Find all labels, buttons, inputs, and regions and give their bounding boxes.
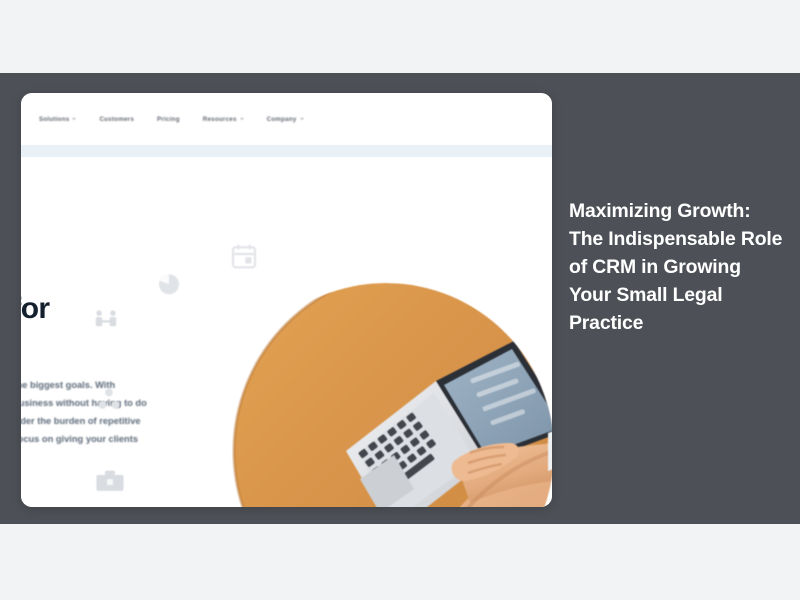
briefcase-icon xyxy=(94,467,126,495)
calendar-icon xyxy=(229,241,259,271)
nav-item-customers[interactable]: Customers xyxy=(99,116,134,123)
person-group-icon xyxy=(95,386,123,414)
nav-item-pricing[interactable]: Pricing xyxy=(157,116,180,123)
chevron-down-icon xyxy=(240,118,244,120)
hero-headline-line-1: tion for xyxy=(21,292,281,326)
nav-item-label: Customers xyxy=(99,116,134,123)
nav-item-solutions[interactable]: Solutions xyxy=(39,116,76,123)
chevron-down-icon xyxy=(300,118,304,120)
hero-section: tion for firms mbitious with the biggest… xyxy=(21,157,552,507)
nav-item-resources[interactable]: Resources xyxy=(203,116,244,123)
nav-item-label: Pricing xyxy=(157,116,180,123)
pie-chart-icon xyxy=(154,268,184,298)
article-headline: Maximizing Growth: The Indispensable Rol… xyxy=(569,198,784,338)
nav-item-label: Resources xyxy=(203,116,237,123)
chevron-down-icon xyxy=(72,118,76,120)
screenshot-root: Solutions Customers Pricing Resources Co… xyxy=(0,0,800,600)
site-nav: Solutions Customers Pricing Resources Co… xyxy=(21,93,552,145)
nav-item-label: Solutions xyxy=(39,116,69,123)
nav-item-company[interactable]: Company xyxy=(267,116,304,123)
nav-item-label: Company xyxy=(267,116,297,123)
hero-headline: tion for firms xyxy=(21,292,281,360)
nav-underline-strip xyxy=(21,145,552,157)
hero-headline-line-2: firms xyxy=(21,326,281,360)
partners-icon xyxy=(91,306,121,336)
website-preview-card[interactable]: Solutions Customers Pricing Resources Co… xyxy=(21,93,552,507)
